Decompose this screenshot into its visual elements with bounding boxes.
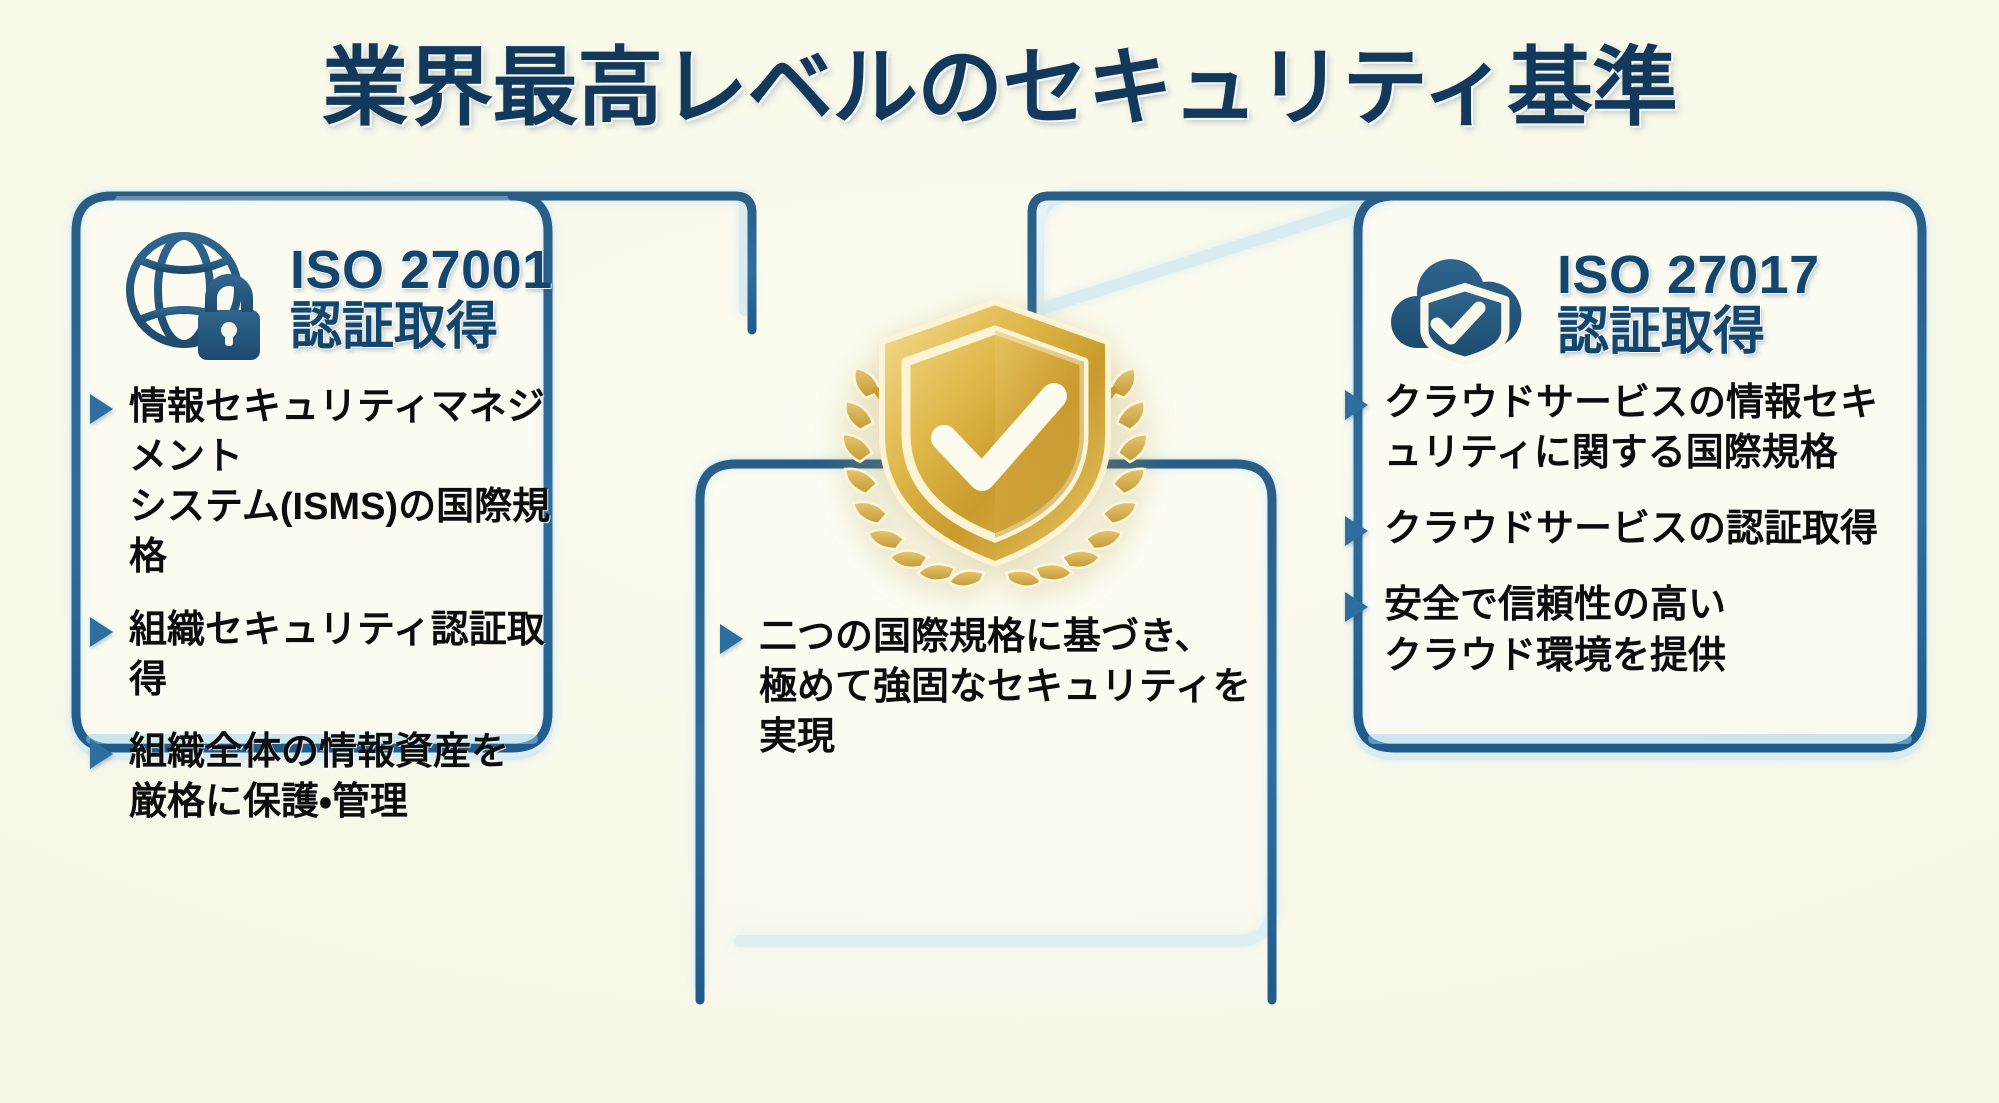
- card-heading-text-left: ISO 27001 認証取得: [290, 241, 553, 355]
- bullet-triangle-icon: [90, 394, 113, 424]
- bullet-triangle-icon: [90, 617, 113, 647]
- list-item: 情報セキュリティマネジメントシステム(ISMS)の国際規格: [90, 382, 560, 583]
- bullet-triangle-icon: [90, 739, 113, 769]
- list-item-text: クラウドサービスの認証取得: [1384, 504, 1878, 554]
- certification-label-left: 認証取得: [290, 299, 553, 355]
- list-item-text: 安全で信頼性の高いクラウド環境を提供: [1384, 580, 1726, 680]
- globe-lock-icon: [118, 228, 268, 368]
- list-item: 組織セキュリティ認証取得: [90, 605, 560, 705]
- list-item-text: 組織セキュリティ認証取得: [129, 605, 560, 705]
- bullet-triangle-icon: [1345, 516, 1368, 546]
- list-item-text: クラウドサービスの情報セキュリティに関する国際規格: [1384, 378, 1878, 478]
- bullet-triangle-icon: [1345, 390, 1368, 420]
- bullet-triangle-icon: [1345, 592, 1368, 622]
- list-item: 二つの国際規格に基づき、極めて強固なセキュリティを実現: [720, 612, 1260, 762]
- list-item: 組織全体の情報資産を厳格に保護・管理: [90, 727, 560, 827]
- list-item: 安全で信頼性の高いクラウド環境を提供: [1345, 580, 1925, 680]
- gold-shield-check-laurel-emblem: [820, 286, 1170, 596]
- cloud-shield-check-icon: [1375, 238, 1535, 368]
- bullet-list-center: 二つの国際規格に基づき、極めて強固なセキュリティを実現: [720, 612, 1260, 762]
- card-heading-right: ISO 27017 認証取得: [1375, 238, 1820, 368]
- list-item-text: 情報セキュリティマネジメントシステム(ISMS)の国際規格: [129, 382, 560, 583]
- card-heading-text-right: ISO 27017 認証取得: [1557, 246, 1820, 360]
- standard-name-right: ISO 27017: [1557, 245, 1820, 305]
- shield-icon: [882, 302, 1108, 564]
- list-item-text: 組織全体の情報資産を厳格に保護・管理: [129, 727, 509, 827]
- list-item: クラウドサービスの情報セキュリティに関する国際規格: [1345, 378, 1925, 478]
- list-item-text: 二つの国際規格に基づき、極めて強固なセキュリティを実現: [759, 612, 1251, 762]
- bullet-triangle-icon: [720, 624, 743, 654]
- bullet-list-right: クラウドサービスの情報セキュリティに関する国際規格 クラウドサービスの認証取得 …: [1345, 378, 1925, 681]
- standard-name-left: ISO 27001: [290, 240, 553, 300]
- card-heading-left: ISO 27001 認証取得: [118, 228, 553, 368]
- certification-label-right: 認証取得: [1557, 304, 1820, 360]
- page-title: 業界最高レベルのセキュリティ基準: [0, 42, 1999, 135]
- list-item: クラウドサービスの認証取得: [1345, 504, 1925, 554]
- infographic-canvas: 業界最高レベルのセキュリティ基準: [0, 0, 1999, 1103]
- bullet-list-left: 情報セキュリティマネジメントシステム(ISMS)の国際規格 組織セキュリティ認証…: [90, 382, 560, 827]
